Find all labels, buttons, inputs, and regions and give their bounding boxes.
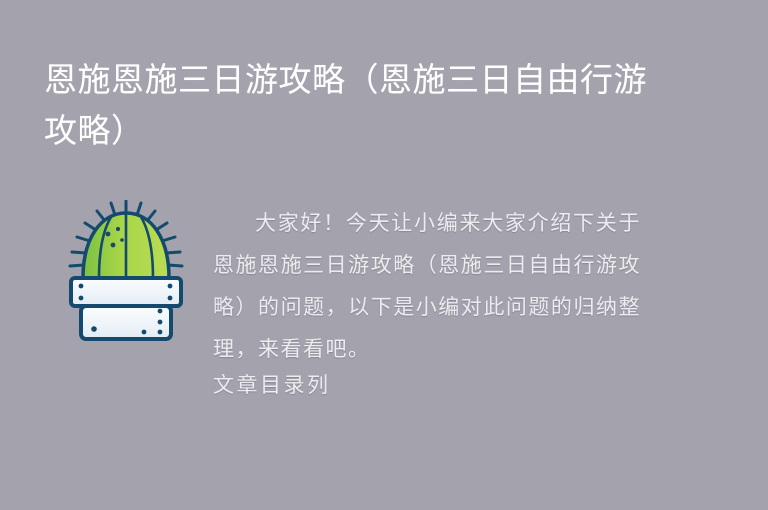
article-paragraph: 大家好！今天让小编来大家介绍下关于恩施恩施三日游攻略（恩施三日自由行游攻略）的问… [213,202,641,370]
article-body: 大家好！今天让小编来大家介绍下关于恩施恩施三日游攻略（恩施三日自由行游攻略）的问… [0,196,768,496]
page-title-text: 恩施恩施三日游攻略（恩施三日自由行游攻略） [44,54,664,156]
article-page: 恩施恩施三日游攻略（恩施三日自由行游攻略） [0,0,768,510]
pot-rim [71,278,181,306]
cactus-illustration [66,200,186,342]
page-title: 恩施恩施三日游攻略（恩施三日自由行游攻略） [44,54,664,156]
cactus-icon [66,200,186,342]
pot-body [81,306,171,339]
article-toc-line: 文章目录列 [213,370,641,400]
article-text: 大家好！今天让小编来大家介绍下关于恩施恩施三日游攻略（恩施三日自由行游攻略）的问… [213,202,641,400]
